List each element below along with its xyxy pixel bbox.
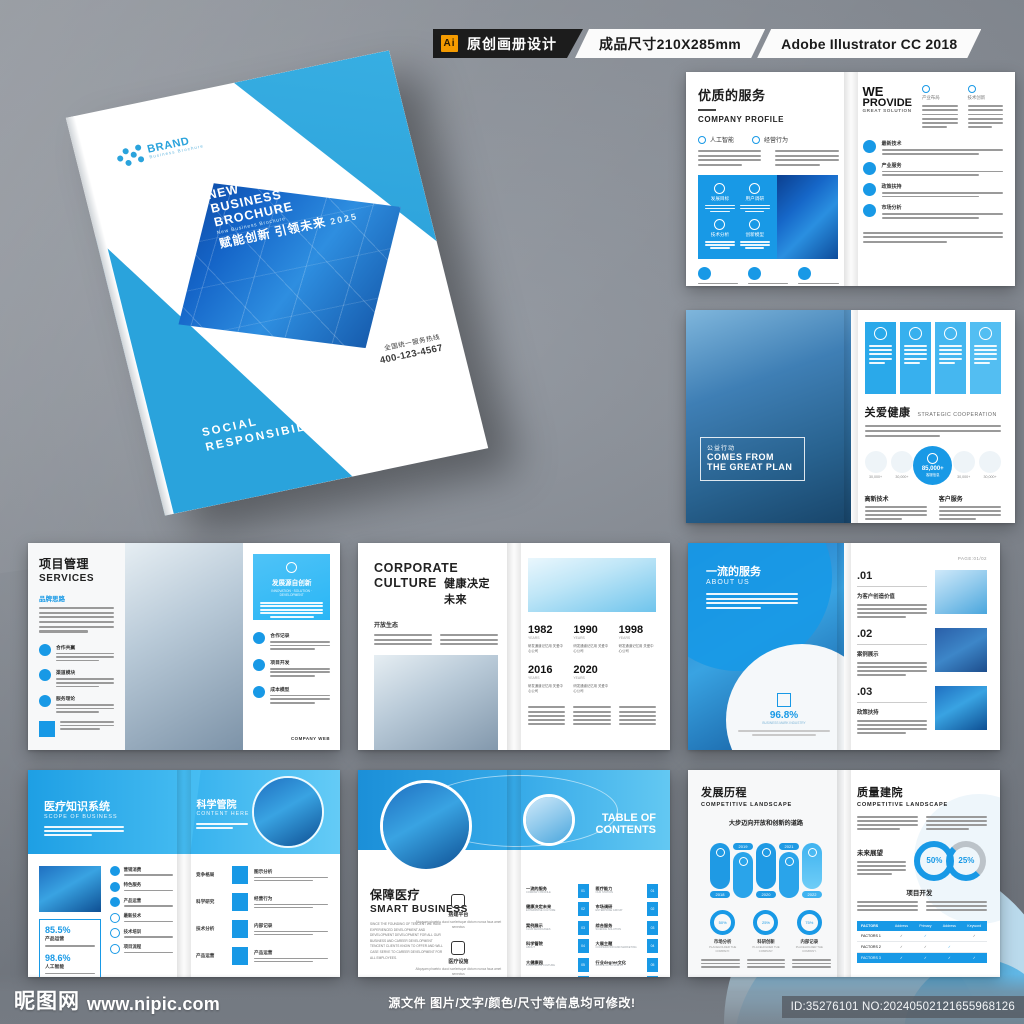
p3-small-2: 30,000+ — [953, 475, 975, 479]
bulb-icon-2 — [451, 941, 465, 955]
toc-entry[interactable]: 医疗能力OUR STATION01 — [596, 884, 659, 898]
p7-rb-0 — [232, 866, 248, 884]
brochure-cover: BRAND Business Brochure NEW BUSINESS BRO… — [66, 50, 488, 515]
p4-card-title: 发展源自创新 — [260, 577, 323, 587]
p4-icon-0 — [39, 644, 51, 656]
layers-icon — [749, 219, 760, 230]
p6-photo-0 — [935, 570, 987, 614]
p2-blue-item-3: 创新模型 — [740, 232, 770, 238]
p6-photo-1 — [935, 628, 987, 672]
toc-entry-number: 02 — [647, 902, 658, 916]
p7-stat2-label: 人工智能 — [45, 963, 95, 970]
asset-id-label: ID:35276101 NO:20240502121655968126 — [782, 996, 1024, 1018]
p6-stat: 96.8% — [738, 710, 830, 721]
p9-yr-3: 2021 — [779, 843, 799, 850]
p2-item-1: 产业服务 — [882, 162, 1004, 169]
p9-donut-2: 75% — [797, 910, 822, 935]
toc-entry-en: ENTERPRISE CULTURE — [526, 910, 574, 913]
toc-entry[interactable]: 大展主题COOPERATION AND MARKETING04 — [596, 939, 659, 953]
p4-ritem-0: 合作记录 — [270, 632, 330, 639]
tag-finished-size: 成品尺寸210X285mm — [575, 29, 765, 58]
p9-rtitle-en: COMPETITIVE LANDSCAPE — [857, 802, 987, 808]
p7-li-1 — [110, 882, 120, 892]
p8-toc-line1: TABLE OF — [596, 813, 657, 825]
p5-title-en2: CULTURE — [374, 576, 437, 590]
p6-page-no: PAGE:01/02 — [857, 556, 987, 561]
toc-entry[interactable]: 市场调研ENTERPRISE GROUP02 — [596, 902, 659, 916]
p7-rb-2 — [232, 920, 248, 938]
p5-clinic-photo — [374, 655, 498, 750]
p3-overlay-cn: 公益行动 — [707, 443, 798, 452]
toc-entry-en: ABOUT — [526, 947, 574, 950]
p2-item-2: 政策扶持 — [882, 183, 1004, 190]
p9-yr-1: 2019 — [733, 843, 753, 850]
p3-icon-3 — [979, 327, 992, 340]
p4-item-2: 服务理论 — [56, 695, 114, 702]
toc-entry[interactable]: 科学管院ABOUT04 — [526, 939, 589, 953]
toc-entry-en: OUR STATION — [596, 892, 644, 895]
p4-ricon-0 — [253, 632, 265, 644]
p2-col2: 经营行为 — [752, 135, 788, 144]
toc-entry-number: 05 — [647, 958, 658, 972]
toc-entry[interactable]: 一流的服务COMPANY PROFILE01 — [526, 884, 589, 898]
gear-icon — [698, 136, 706, 144]
p4-ritem-2: 成本模型 — [270, 686, 330, 693]
p6-stat-sub: BUSINESS MARK INDUSTRY — [738, 721, 830, 725]
panel-scope-of-business: 医疗知识系统 SCOPE OF BUSINESS 科学管院 CONTENT HE… — [28, 770, 340, 977]
p6-num-1: .02 — [857, 628, 927, 640]
badge-icon-3 — [798, 267, 811, 280]
p9-title-cn: 发展历程 — [701, 784, 831, 800]
p7-rl-0: 竞争格局 — [196, 872, 226, 878]
panel-competitive-landscape: 发展历程 COMPETITIVE LANDSCAPE 大步迈向开放和创新的道路 … — [688, 770, 1000, 977]
p4-footer: COMPANY WEB — [291, 736, 330, 741]
p6-title-cn: 一流的服务 — [706, 563, 798, 579]
link-icon — [752, 136, 760, 144]
p2-dna-photo — [777, 175, 839, 259]
p3-foot-left: 高新技术 — [865, 494, 927, 503]
illustrator-icon: Ai — [441, 35, 458, 52]
p7-stat1: 85.5% — [45, 925, 95, 935]
p4-icon-2 — [39, 695, 51, 707]
p7-li-3 — [110, 913, 120, 923]
p9-donut-1: 25% — [753, 910, 778, 935]
p7-rl-1: 科学研究 — [196, 899, 226, 905]
p2-col2-label: 经营行为 — [764, 135, 788, 144]
p7-rtitle-en: CONTENT HERE — [196, 811, 249, 817]
toc-entry-number: 03 — [578, 921, 589, 935]
p8-feature-1: 搭建平台 — [415, 911, 502, 918]
bulb-icon — [968, 85, 976, 93]
p5-year-0: 1982 — [528, 624, 565, 636]
p9-yr-2: 2020 — [756, 891, 776, 898]
p5-title-cn: 健康决定未来 — [444, 575, 498, 607]
molecule-icon — [114, 144, 144, 169]
p9-title-en: COMPETITIVE LANDSCAPE — [701, 802, 831, 808]
tag-original-design-label: 原创画册设计 — [467, 34, 557, 54]
badge-icon-1 — [698, 267, 711, 280]
p5-year-2: 1998 — [619, 624, 656, 636]
p4-icon-1 — [39, 669, 51, 681]
badge-icon-2 — [748, 267, 761, 280]
p3-clock-icon — [927, 453, 938, 464]
p6-photo-2 — [935, 686, 987, 730]
p5-title-en1: CORPORATE — [374, 561, 498, 575]
p6-num-0: .01 — [857, 570, 927, 582]
p5-year-1: 1990 — [573, 624, 610, 636]
p8-feature-2: 医疗设施 — [415, 958, 502, 965]
p7-li-5 — [110, 944, 120, 954]
p7-rl-2: 技术分析 — [196, 926, 226, 932]
panel-services: 项目管理 SERVICES 品牌思路 合作共赢 渠道模块 服务理论 发展源自创新… — [28, 543, 340, 750]
search-icon — [863, 140, 876, 153]
panel-company-profile: 优质的服务 COMPANY PROFILE 人工智能 经营行为 — [686, 72, 1015, 286]
cover-mockup: BRAND Business Brochure NEW BUSINESS BRO… — [72, 52, 542, 522]
p9-headline: 大步迈向开放和创新的道路 — [701, 818, 831, 827]
p7-stat2: 98.6% — [45, 953, 95, 963]
p4-title-en: SERVICES — [39, 573, 114, 584]
p2-item-3: 市场分析 — [882, 204, 1004, 211]
table-row: FACTORS 2✓✓✓ — [857, 941, 987, 952]
p3-small-1: 30,000+ — [891, 475, 913, 479]
toc-entry-en: SCIENCE SOLUTION — [596, 929, 644, 932]
target-icon — [714, 183, 725, 194]
table-row: FACTORS 1✓✓✓ — [857, 931, 987, 942]
p9-mid-label2: 项目开发 — [857, 887, 987, 897]
toc-entry[interactable]: 行业degree文化SCOPE OF BUSINESS05 — [596, 958, 659, 972]
cover-hotline: 全国统一服务热线 400-123-4567 — [376, 330, 444, 365]
toc-entry[interactable]: 大健康园CORPORATE CULTURE05 — [526, 958, 589, 972]
p2-great-solution: GREAT SOLUTION — [863, 109, 913, 114]
p3-icon-0 — [874, 327, 887, 340]
chip-icon — [922, 85, 930, 93]
shield-icon — [863, 183, 876, 196]
p5-year-3: 2016 — [528, 664, 565, 676]
p9-rtitle-cn: 质量建院 — [857, 784, 987, 800]
toc-entry[interactable]: 综合服务SCIENCE SOLUTION03 — [596, 921, 659, 935]
p6-title-en: ABOUT US — [706, 579, 798, 586]
p3-overlay-en1: COMES FROM — [707, 452, 798, 462]
p4-title-cn: 项目管理 — [39, 555, 114, 572]
p4-card-sub: INNOVATION · SOLUTION · DEVELOPMENT — [260, 589, 323, 597]
p5-year-4: 2020 — [573, 664, 610, 676]
toc-entry-en: COOPERATION AND MARKETING — [596, 947, 644, 950]
table-row: FACTORS 3✓✓✓✓ — [857, 952, 987, 963]
watermark-bar: 昵图网 www.nipic.com 源文件 图片/文字/颜色/尺寸等信息均可修改… — [0, 974, 1024, 1024]
signal-icon — [714, 219, 725, 230]
p4-card-icon — [286, 562, 297, 573]
p4-syringe-photo — [125, 543, 244, 750]
panel-strategic-cooperation: 公益行动 COMES FROM THE GREAT PLAN 关爱健康 STRA… — [686, 310, 1015, 523]
p2-blue-item-0: 发展目标 — [705, 196, 735, 202]
p7-left-photo — [39, 866, 101, 912]
p6-label-0: 为客户创造价值 — [857, 592, 927, 600]
toc-entry-number: 01 — [647, 884, 658, 898]
p6-molecule-photo: 一流的服务 ABOUT US 96.8% BUSINESS MARK INDUS… — [688, 543, 844, 750]
toc-entry-number: 02 — [578, 902, 589, 916]
p4-item-1: 渠道模块 — [56, 669, 114, 676]
p6-label-1: 案例展示 — [857, 650, 927, 658]
toc-entry-en: ENTERPRISE GROUP — [596, 910, 644, 913]
p3-small-0: 30,000+ — [865, 475, 887, 479]
p2-title-en: COMPANY PROFILE — [698, 115, 839, 124]
toc-entry[interactable]: 健康决定未来ENTERPRISE CULTURE02 — [526, 902, 589, 916]
p4-ricon-1 — [253, 659, 265, 671]
toc-entry-number: 04 — [647, 939, 658, 953]
p9-yr-4: 2022 — [802, 891, 822, 898]
p7-title-en: SCOPE OF BUSINESS — [44, 814, 124, 820]
p4-ricon-2 — [253, 686, 265, 698]
p3-overlay-en2: THE GREAT PLAN — [707, 462, 798, 472]
cover-brand-logo: BRAND Business Brochure — [114, 132, 205, 169]
p9-yr-0: 2018 — [710, 891, 730, 898]
p3-title-en: STRATEGIC COOPERATION — [918, 412, 997, 418]
chart-icon — [863, 204, 876, 217]
p9-table-header: FACTORS Address Primary Address Keyword — [857, 921, 987, 931]
p3-stat-label: 客服信息 — [926, 472, 940, 477]
p2-blue-item-2: 技术分析 — [705, 232, 735, 238]
p2-blue-item-1: 用户调研 — [740, 196, 770, 202]
p7-li-4 — [110, 928, 120, 938]
panel-smart-business: TABLE OF CONTENTS 保障医疗 SMART BUSINESS SI… — [358, 770, 670, 977]
p3-icon-2 — [944, 327, 957, 340]
toc-column-left: 一流的服务COMPANY PROFILE01健康决定未来ENTERPRISE C… — [526, 884, 589, 965]
p7-li-0 — [110, 866, 120, 876]
panel-corporate-culture: CORPORATE CULTURE 健康决定未来 开放生态 1982YEARS研… — [358, 543, 670, 750]
p9-ring-2: 25% — [946, 841, 986, 881]
p4-item-0: 合作共赢 — [56, 644, 114, 651]
p3-title-cn: 关爱健康 — [865, 404, 911, 420]
recycle-icon — [451, 894, 465, 908]
toc-entry-number: 01 — [578, 884, 589, 898]
p7-li-2 — [110, 897, 120, 907]
toc-entry-number: 04 — [578, 939, 589, 953]
p2-title-cn: 优质的服务 — [698, 85, 839, 104]
p7-title-cn: 医疗知识系统 — [44, 798, 124, 814]
p6-label-2: 政策扶持 — [857, 708, 927, 716]
p7-rtitle-cn: 科学管院 — [196, 796, 249, 811]
p4-ritem-1: 项目开发 — [270, 659, 330, 666]
p8-hand-circle — [523, 794, 575, 846]
toc-entry-en: SCOPE OF BUSINESS — [596, 965, 644, 968]
p3-small-3: 30,000+ — [979, 475, 1001, 479]
p3-foot-right: 客户服务 — [939, 494, 1001, 503]
toc-entry-en: COMPANY PROFILE — [526, 892, 574, 895]
p9-mid-label: 未来展望 — [857, 847, 906, 857]
p8-dna-circle — [380, 780, 472, 872]
tag-software-version: Adobe Illustrator CC 2018 — [757, 29, 981, 58]
p7-circle-photo — [252, 776, 324, 848]
p7-stat1-label: 产品运营 — [45, 935, 95, 942]
p7-rb-3 — [232, 947, 248, 965]
p2-we: WE — [863, 85, 913, 98]
p9-table: FACTORS Address Primary Address Keyword … — [857, 921, 987, 963]
toc-entry-number: 03 — [647, 921, 658, 935]
toc-column-right: 医疗能力OUR STATION01市场调研ENTERPRISE GROUP02综… — [596, 884, 659, 965]
panel-about-us: 一流的服务 ABOUT US 96.8% BUSINESS MARK INDUS… — [688, 543, 1000, 750]
toc-entry-en: CORPORATE CULTURE — [526, 965, 574, 968]
p7-rl-3: 产品运营 — [196, 953, 226, 959]
p3-nurse-photo: 公益行动 COMES FROM THE GREAT PLAN — [686, 310, 851, 523]
toc-entry[interactable]: 案例展示CLUB SHOWCASES03 — [526, 921, 589, 935]
p7-rb-1 — [232, 893, 248, 911]
p4-icon-3 — [39, 721, 55, 737]
toc-entry-number: 05 — [578, 958, 589, 972]
p2-col1-label: 人工智能 — [710, 135, 734, 144]
toc-entry-en: CLUB SHOWCASES — [526, 929, 574, 932]
p5-beaker-photo — [528, 558, 656, 612]
user-icon — [749, 183, 760, 194]
p3-icon-1 — [909, 327, 922, 340]
p2-col1: 人工智能 — [698, 135, 734, 144]
p5-sub-cn: 开放生态 — [374, 620, 498, 629]
p2-item-0: 最新技术 — [882, 140, 1004, 147]
p8-toc-line2: CONTENTS — [596, 825, 657, 837]
p9-donut-0: 50% — [710, 910, 735, 935]
p4-sub-cn: 品牌思路 — [39, 593, 114, 603]
p2-rcol-1: 技术创新 — [968, 95, 1004, 101]
p6-num-2: .03 — [857, 686, 927, 698]
globe-icon — [863, 162, 876, 175]
p2-rcol-0: 产业布局 — [922, 95, 958, 101]
p6-chart-icon — [777, 693, 791, 707]
